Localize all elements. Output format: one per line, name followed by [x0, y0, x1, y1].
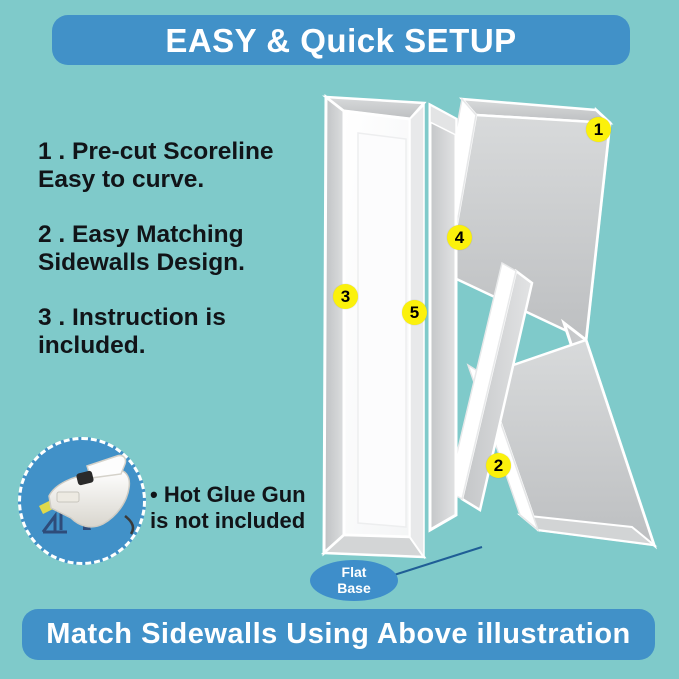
callout-badge-4-label: 4: [455, 229, 464, 246]
glue-gun-note: • Hot Glue Gun is not included: [150, 482, 360, 535]
callout-badge-5-label: 5: [410, 304, 419, 321]
callout-badge-3[interactable]: 3: [333, 284, 358, 309]
callout-badge-3-label: 3: [341, 288, 350, 305]
callout-badge-2[interactable]: 2: [486, 453, 511, 478]
footer-title: Match Sidewalls Using Above illustration: [46, 620, 631, 649]
header-title: EASY & Quick SETUP: [165, 24, 516, 57]
flat-base-callout-line-2: Base: [337, 581, 370, 597]
hot-glue-gun-icon: [21, 440, 149, 568]
flat-base-callout-line-1: Flat: [342, 565, 367, 581]
callout-badge-4[interactable]: 4: [447, 225, 472, 250]
hot-glue-gun-badge: [18, 437, 146, 565]
callout-badge-2-label: 2: [494, 457, 503, 474]
header-banner: EASY & Quick SETUP: [52, 15, 630, 65]
flat-base-callout: Flat Base: [310, 560, 398, 601]
infographic-canvas: EASY & Quick SETUP 1 . Pre-cut Scoreline…: [0, 0, 679, 679]
glue-gun-note-line-1: • Hot Glue Gun: [150, 482, 360, 508]
callout-badge-5[interactable]: 5: [402, 300, 427, 325]
callout-badge-1[interactable]: 1: [586, 117, 611, 142]
glue-gun-note-line-2: is not included: [150, 508, 360, 534]
footer-banner: Match Sidewalls Using Above illustration: [22, 609, 655, 660]
callout-badge-1-label: 1: [594, 121, 603, 138]
letter-k-center-sidewall: [430, 105, 456, 530]
